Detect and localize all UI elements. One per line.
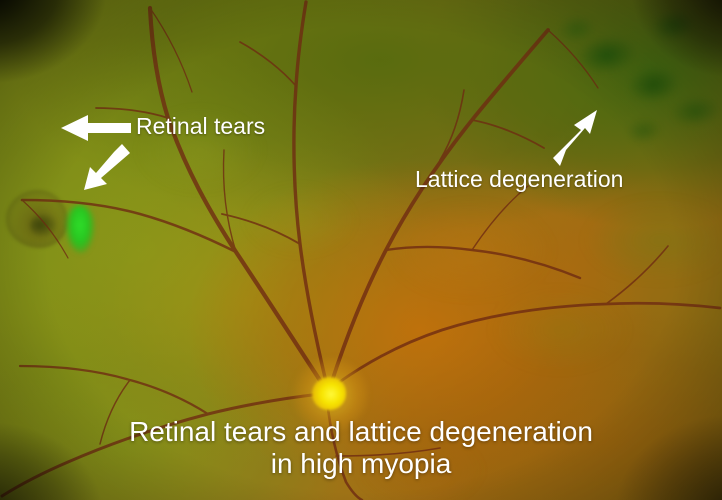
- caption-line-1: Retinal tears and lattice degeneration: [0, 416, 722, 448]
- retinal-fundus-image: Retinal tears Lattice degeneration Retin…: [0, 0, 722, 500]
- image-caption: Retinal tears and lattice degeneration i…: [0, 416, 722, 480]
- caption-line-2: in high myopia: [0, 448, 722, 480]
- arrow-up-right-icon: [553, 110, 597, 166]
- arrow-left-icon: [61, 115, 131, 141]
- label-retinal-tears: Retinal tears: [136, 113, 265, 140]
- arrow-down-left-icon: [84, 144, 130, 190]
- annotation-overlay: Retinal tears Lattice degeneration Retin…: [0, 0, 722, 500]
- label-lattice-degeneration: Lattice degeneration: [415, 166, 623, 193]
